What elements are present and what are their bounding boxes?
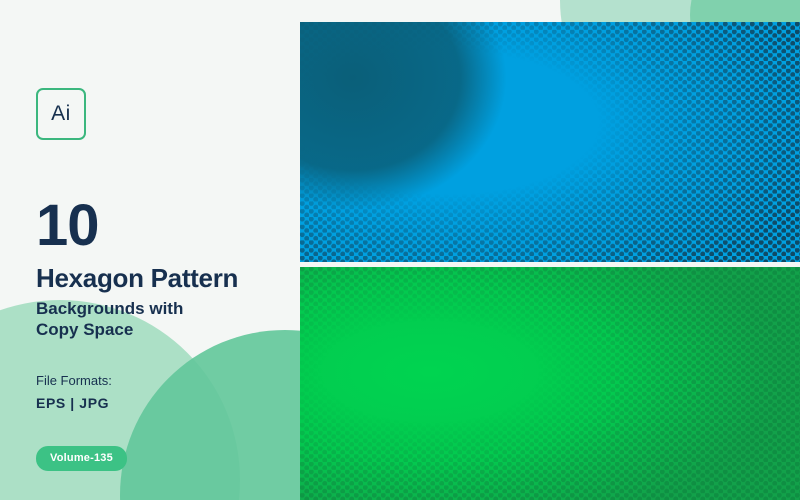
adobe-illustrator-label: Ai: [51, 102, 71, 126]
page-subtitle-line-2: Copy Space: [36, 319, 286, 340]
page-title: Hexagon Pattern: [36, 264, 286, 292]
preview-hexagon-pattern-green: [300, 267, 800, 500]
file-formats-label: File Formats:: [36, 373, 286, 388]
preview-green-artwork: [300, 267, 800, 500]
volume-badge: Volume-135: [36, 446, 127, 471]
preview-hexagon-pattern-blue: [300, 22, 800, 262]
page-subtitle: Backgrounds with Copy Space: [36, 298, 286, 341]
file-formats-value: EPS | JPG: [36, 395, 286, 411]
info-panel: Ai 10 Hexagon Pattern Backgrounds with C…: [36, 88, 286, 471]
page-subtitle-line-1: Backgrounds with: [36, 298, 286, 319]
item-count: 10: [36, 197, 286, 255]
adobe-illustrator-icon: Ai: [36, 88, 86, 140]
poster-canvas: Ai 10 Hexagon Pattern Backgrounds with C…: [0, 0, 800, 500]
preview-blue-artwork: [300, 22, 800, 262]
